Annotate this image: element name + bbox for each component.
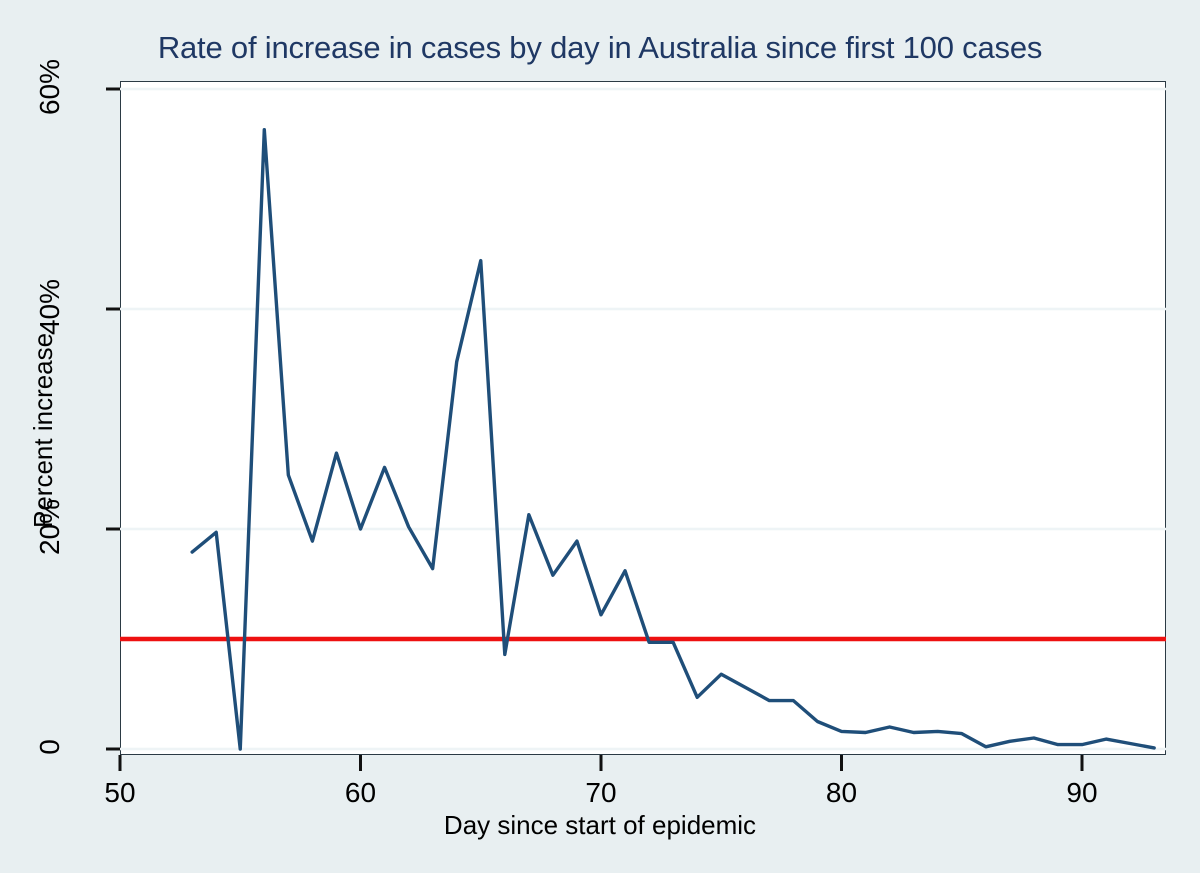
- data-series-line: [192, 130, 1154, 749]
- x-tick-label: 90: [1032, 777, 1132, 809]
- x-tick-label: 80: [792, 777, 892, 809]
- y-axis-label: Percent increase: [28, 333, 59, 528]
- chart-figure: Rate of increase in cases by day in Aust…: [0, 0, 1200, 873]
- x-tick-label: 70: [551, 777, 651, 809]
- gridlines-group: [120, 89, 1166, 749]
- y-tick-label: 0: [34, 697, 66, 797]
- y-tick-label: 60%: [34, 37, 66, 137]
- x-axis-label: Day since start of epidemic: [0, 810, 1200, 841]
- x-tick-label: 50: [70, 777, 170, 809]
- x-tick-label: 60: [311, 777, 411, 809]
- plot-svg: [0, 0, 1200, 873]
